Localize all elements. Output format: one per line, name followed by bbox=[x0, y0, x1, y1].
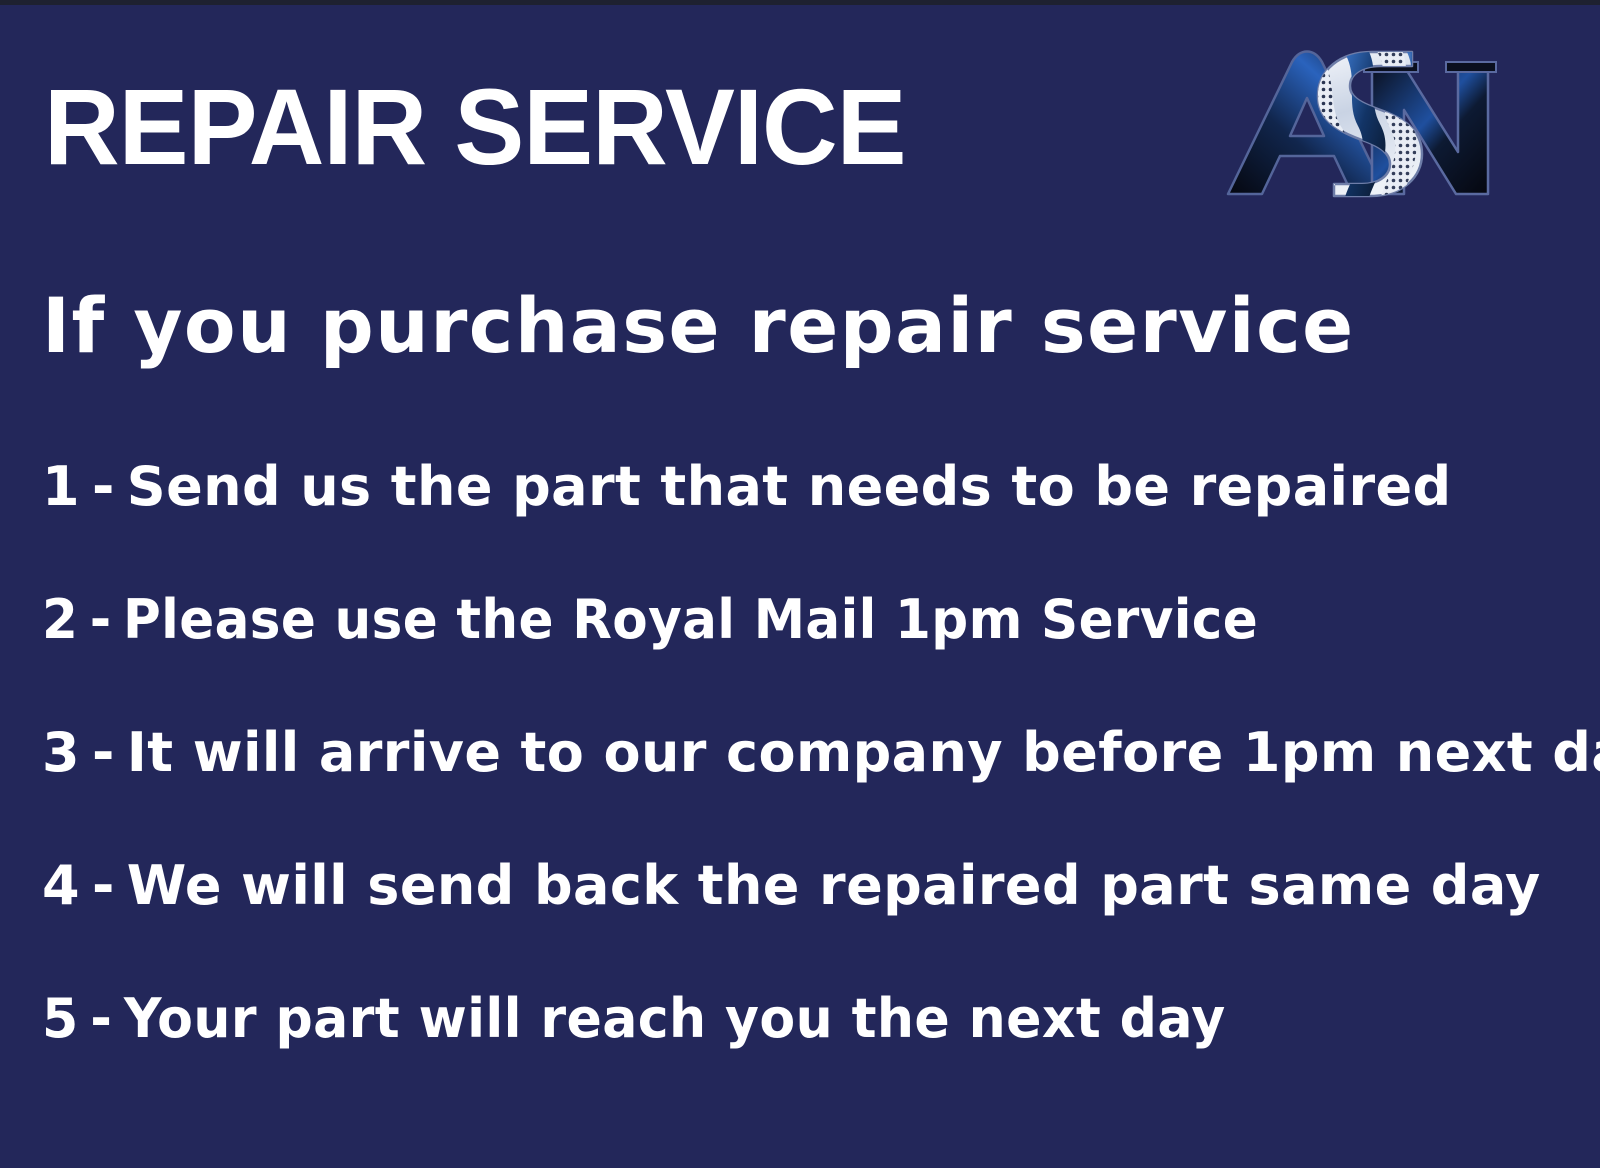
list-item: 3 - It will arrive to our company before… bbox=[42, 726, 1562, 859]
step-number: 1 bbox=[42, 460, 80, 514]
repair-service-slide: REPAIR SERVICE If you purchase repair se… bbox=[0, 0, 1600, 1168]
step-number: 2 bbox=[42, 593, 78, 647]
step-separator: - bbox=[78, 593, 123, 647]
step-text: Please use the Royal Mail 1pm Service bbox=[123, 593, 1258, 647]
step-separator: - bbox=[79, 992, 124, 1046]
asn-logo bbox=[1222, 44, 1498, 200]
step-text: We will send back the repaired part same… bbox=[127, 859, 1541, 913]
step-separator: - bbox=[80, 460, 127, 514]
step-text: Your part will reach you the next day bbox=[124, 992, 1226, 1046]
list-item: 2 - Please use the Royal Mail 1pm Servic… bbox=[42, 593, 1494, 726]
list-item: 5 - Your part will reach you the next da… bbox=[42, 992, 1509, 1125]
list-item: 4 - We will send back the repaired part … bbox=[42, 859, 1562, 992]
top-edge-strip bbox=[0, 0, 1600, 5]
step-text: It will arrive to our company before 1pm… bbox=[127, 726, 1600, 780]
subtitle: If you purchase repair service bbox=[42, 286, 1355, 366]
asn-logo-icon bbox=[1222, 44, 1498, 200]
step-number: 3 bbox=[42, 726, 80, 780]
steps-list: 1 - Send us the part that needs to be re… bbox=[42, 460, 1562, 1125]
step-separator: - bbox=[80, 726, 127, 780]
step-number: 4 bbox=[42, 859, 80, 913]
step-number: 5 bbox=[42, 992, 79, 1046]
step-text: Send us the part that needs to be repair… bbox=[127, 460, 1452, 514]
page-title: REPAIR SERVICE bbox=[44, 73, 906, 181]
step-separator: - bbox=[80, 859, 127, 913]
list-item: 1 - Send us the part that needs to be re… bbox=[42, 460, 1562, 593]
